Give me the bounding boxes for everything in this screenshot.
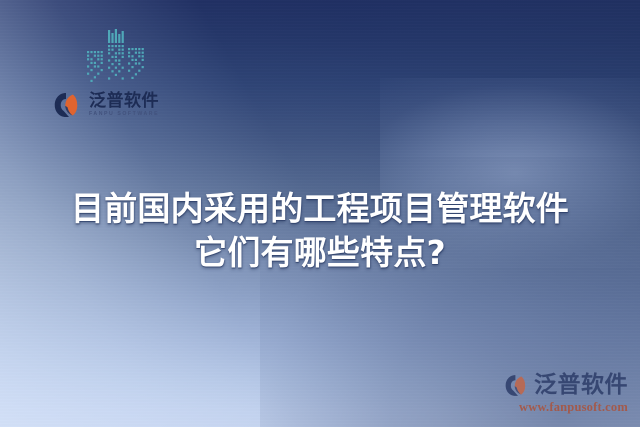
watermark-brand-row: 泛普软件: [505, 374, 628, 397]
watermark-brand-name: 泛普软件: [534, 374, 628, 397]
headline-line-2: 它们有哪些特点?: [0, 231, 640, 275]
brand-name-en: FANPU SOFTWARE: [89, 112, 159, 117]
watermark-url: www.fanpusoft.com: [505, 400, 628, 415]
headline-line-1: 目前国内采用的工程项目管理软件: [0, 187, 640, 231]
watermark: 泛普软件 www.fanpusoft.com: [505, 374, 628, 415]
promo-banner: 泛普软件 FANPU SOFTWARE 目前国内采用的工程项目管理软件 它们有哪…: [0, 0, 640, 427]
headline: 目前国内采用的工程项目管理软件 它们有哪些特点?: [0, 187, 640, 275]
fanpu-swoosh-leaf-icon: [505, 374, 531, 397]
background-radial-glow: [380, 78, 640, 268]
brand-logo: 泛普软件 FANPU SOFTWARE: [54, 92, 159, 118]
fanpu-swoosh-leaf-icon: [54, 92, 84, 118]
pixel-city-skyline-icon: [84, 26, 148, 90]
brand-name-cn: 泛普软件: [89, 93, 159, 110]
